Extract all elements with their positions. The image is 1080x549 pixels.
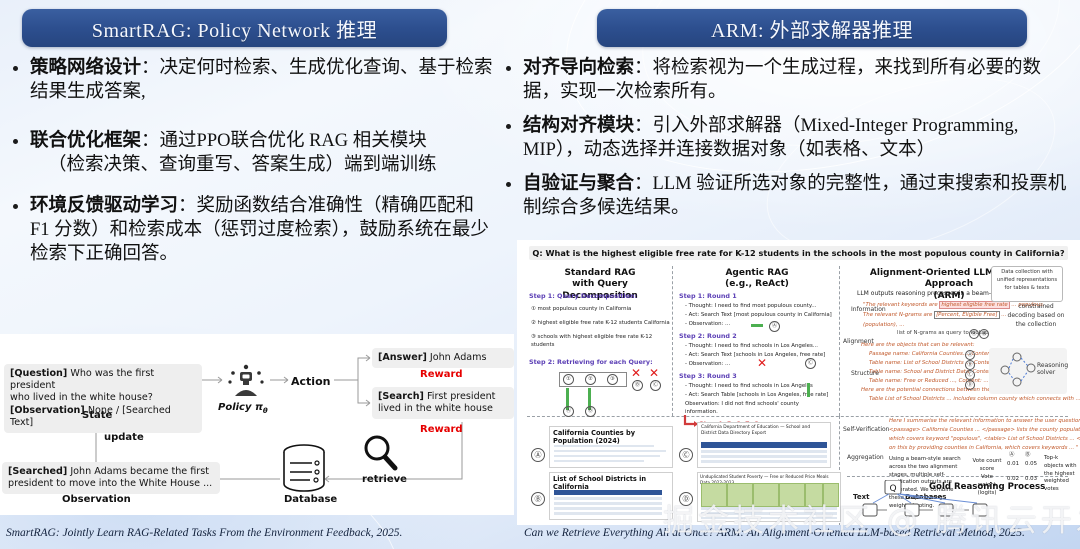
standard-item-3: ③ schools with highest eligible free rat… bbox=[531, 334, 666, 350]
agentic-round-1-line-1: - Thought: I need to find most populous … bbox=[685, 303, 816, 311]
agentic-round-2-head: Step 2: Round 2 bbox=[679, 332, 737, 340]
observation-box: [Searched] John Adams became the first p… bbox=[2, 462, 220, 494]
agentic-round-2-line-2: - Act: Search Text [schools in Los Angel… bbox=[685, 352, 825, 360]
vote-col-b: Ⓑ bbox=[1025, 452, 1030, 460]
right-figure-caption: Can we Retrieve Everything All at Once? … bbox=[524, 527, 1025, 539]
doc-sheet-c: California Department of Education — Sch… bbox=[697, 422, 831, 468]
svg-text:Q: Q bbox=[889, 484, 896, 494]
search-line-2: lived in the white house bbox=[378, 403, 508, 415]
sheet-badge-a: Ⓐ bbox=[531, 448, 545, 462]
action-label: Action bbox=[291, 375, 330, 388]
observation-label: [Observation] bbox=[10, 405, 85, 416]
left-bullet-list: 策略网络设计：决定何时检索、生成优化查询、基于检索结果生成答案, 联合优化框架：… bbox=[4, 56, 496, 267]
search-magnifier-icon bbox=[362, 434, 398, 472]
arm-summary-line-1: <passage> California Counties ... </pass… bbox=[889, 427, 1080, 435]
agentic-round-1-head: Step 1: Round 1 bbox=[679, 292, 737, 300]
standard-item-1: ① most populous county in California bbox=[531, 306, 631, 314]
vote-count-label: Vote count score bbox=[972, 458, 1002, 474]
stage-label-information: Information bbox=[851, 306, 886, 313]
query-badge-2: ② bbox=[585, 374, 596, 385]
callout-constrained-decoding: constrained decoding based on the collec… bbox=[1007, 302, 1065, 329]
arm-summary-line-3: on this by providing counties in Califor… bbox=[889, 445, 1078, 453]
vote-col-a: Ⓐ bbox=[1009, 452, 1014, 460]
arm-summary-head: Here I summarise the relevant informatio… bbox=[889, 418, 1080, 426]
question-label: [Question] bbox=[10, 368, 67, 379]
observation-label-bottom: Observation bbox=[62, 494, 131, 505]
arm-comparison-figure: Q: What is the highest eligible free rat… bbox=[517, 240, 1080, 525]
standard-step-1: Step 1: Query Decomposition: bbox=[529, 292, 637, 300]
vote-count-a: 0.01 bbox=[1007, 461, 1019, 469]
answer-text: John Adams bbox=[427, 352, 487, 363]
doc-badge-a: Ⓐ bbox=[563, 406, 574, 417]
search-line-1: [Search] First president bbox=[378, 391, 508, 403]
agentic-round-2-line-3: - Observation: ... bbox=[685, 361, 730, 369]
update-label: update bbox=[104, 432, 144, 443]
agentic-round-3-head: Step 3: Round 3 bbox=[679, 372, 737, 380]
x-mark-2: ✕ bbox=[649, 366, 659, 380]
state-label: State bbox=[82, 410, 112, 421]
right-panel-title: ARM: 外部求解器推理 bbox=[597, 9, 1027, 47]
agentic-round-1-line-2: - Act: Search Text [most populous county… bbox=[685, 312, 832, 320]
bullet-separator: ： bbox=[634, 58, 653, 78]
ngram-badge-b: Ⓑ bbox=[979, 329, 989, 339]
arm-object-3: Table name: School and District Data, Co… bbox=[869, 369, 1003, 377]
list-item: 对齐导向检索：将检索视为一个生成过程，来找到所有必要的数据，实现一次检索所有。 bbox=[497, 56, 1075, 105]
agentic-round-1-line-3: - Observation: ... bbox=[685, 321, 730, 329]
arm-keyword-line-3: (population), ... bbox=[863, 322, 904, 330]
standard-step-2: Step 2: Retrieving for each Query: bbox=[529, 358, 653, 366]
bullet-body: 通过PPO联合优化 RAG 相关模块 bbox=[160, 131, 427, 151]
arm-keyword-line-2: The relevant N-grams are [Percent, Eligi… bbox=[863, 312, 1006, 320]
bullet-body-2: （检索决策、查询重写、答案生成）端到端训练 bbox=[30, 153, 496, 177]
bullet-lead: 环境反馈驱动学习 bbox=[30, 196, 178, 216]
search-box: [Search] First president lived in the wh… bbox=[372, 387, 514, 419]
list-item: 策略网络设计：决定何时检索、生成优化查询、基于检索结果生成答案, bbox=[4, 56, 496, 105]
slide-root: SmartRAG: Policy Network 推理 ARM: 外部求解器推理… bbox=[0, 0, 1080, 549]
arm-objects-head: Here are the objects that can be relevan… bbox=[861, 342, 975, 350]
sheet-badge-d: Ⓓ bbox=[679, 492, 693, 506]
searched-text: John Adams became the first bbox=[67, 466, 209, 477]
stage-label-alignment: Alignment bbox=[843, 338, 874, 345]
green-bar-round3 bbox=[807, 383, 810, 397]
bullet-lead: 结构对齐模块 bbox=[523, 116, 634, 136]
answer-label: [Answer] bbox=[378, 352, 427, 363]
column-divider-2 bbox=[839, 266, 840, 416]
ngram-badge-a: Ⓐ bbox=[969, 329, 979, 339]
reward-bottom-label: Reward bbox=[420, 424, 463, 435]
smartrag-policy-figure: [Question] Who was the first president w… bbox=[0, 334, 514, 515]
query-badge-3: ③ bbox=[607, 374, 618, 385]
obj-badge-c: Ⓒ bbox=[965, 370, 975, 380]
list-item: 环境反馈驱动学习：奖励函数结合准确性（精确匹配和 F1 分数）和检索成本（惩罚过… bbox=[4, 194, 496, 267]
arm-object-1: Passage name: California Counties..., Co… bbox=[869, 351, 1001, 359]
doc-sheet-b: List of School Districts in California bbox=[549, 472, 673, 520]
column-divider-1 bbox=[672, 266, 673, 416]
bullet-separator: ： bbox=[634, 116, 653, 136]
gold-reasoning-graph-icon: Q bbox=[847, 480, 1027, 524]
policy-agent-icon bbox=[224, 362, 268, 400]
agentic-round-3-line-1: - Thought: I need to find schools in Los… bbox=[685, 383, 813, 391]
stage-label-aggregation: Aggregation bbox=[847, 454, 884, 461]
list-item: 联合优化框架：通过PPO联合优化 RAG 相关模块 （检索决策、查询重写、答案生… bbox=[4, 129, 496, 178]
bullet-lead: 自验证与聚合 bbox=[523, 174, 634, 194]
retrieve-label: retrieve bbox=[362, 474, 407, 485]
bullet-lead: 联合优化框架 bbox=[30, 131, 141, 151]
left-column: 策略网络设计：决定何时检索、生成优化查询、基于检索结果生成答案, 联合优化框架：… bbox=[4, 56, 496, 281]
bullet-separator: ： bbox=[141, 131, 160, 151]
arm-connections: Table List of School Districts ... inclu… bbox=[869, 396, 1080, 404]
obj-badge-d: Ⓓ bbox=[965, 380, 975, 390]
stage-label-self-verification: Self-Verification bbox=[843, 426, 889, 433]
search-label: [Search] bbox=[378, 391, 424, 402]
sheet-badge-b: Ⓑ bbox=[531, 492, 545, 506]
sheet-badge-c: Ⓒ bbox=[679, 448, 693, 462]
vote-count-b: 0.05 bbox=[1025, 461, 1037, 469]
x-mark-3: ✕ bbox=[757, 356, 767, 370]
policy-label: Policy πθ bbox=[218, 402, 268, 415]
bullet-separator: ： bbox=[178, 196, 197, 216]
obj-badge-a: Ⓐ bbox=[965, 350, 975, 360]
obj-badge-b: Ⓑ bbox=[965, 360, 975, 370]
state-box: [Question] Who was the first president w… bbox=[4, 364, 202, 433]
doc-sheet-d: Unduplicated Student Poverty — Free or R… bbox=[697, 472, 841, 522]
column-head-agentic-rag: Agentic RAG (e.g., ReAct) bbox=[692, 268, 822, 291]
state-line-2: who lived in the white house? bbox=[10, 392, 196, 404]
bullet-separator: ： bbox=[634, 174, 653, 194]
searched-line-1: [Searched] John Adams became the first bbox=[8, 466, 214, 478]
bullet-lead: 对齐导向检索 bbox=[523, 58, 634, 78]
list-item: 结构对齐模块：引入外部求解器（Mixed-Integer Programming… bbox=[497, 114, 1075, 163]
database-icon bbox=[281, 444, 327, 492]
left-panel-title: SmartRAG: Policy Network 推理 bbox=[22, 9, 447, 47]
x-mark-1: ✕ bbox=[631, 366, 641, 380]
topk-note: Top-k objects with the highest weighted … bbox=[1044, 455, 1078, 494]
right-column: 对齐导向检索：将检索视为一个生成过程，来找到所有必要的数据，实现一次检索所有。 … bbox=[497, 56, 1075, 229]
answer-box: [Answer] John Adams bbox=[372, 348, 514, 368]
standard-item-2: ② highest eligible free rate K-12 studen… bbox=[531, 320, 670, 328]
arm-object-2: Table name: List of School Districts ...… bbox=[869, 360, 1004, 368]
searched-line-2: president to move into the White House .… bbox=[8, 478, 214, 490]
round2-badge: Ⓒ bbox=[805, 358, 816, 369]
reward-top-label: Reward bbox=[420, 369, 463, 380]
doc-badge-b: Ⓑ bbox=[585, 406, 596, 417]
state-line-1: [Question] Who was the first president bbox=[10, 368, 196, 392]
green-bar-round1 bbox=[751, 324, 763, 327]
list-item: 自验证与聚合：LLM 验证所选对象的完整性，通过束搜索和投票机制综合多候选结果。 bbox=[497, 172, 1075, 221]
agentic-round-2-line-1: - Thought: I need to find schools in Los… bbox=[685, 343, 818, 351]
right-bullet-list: 对齐导向检索：将检索视为一个生成过程，来找到所有必要的数据，实现一次检索所有。 … bbox=[497, 56, 1075, 220]
arm-summary-line-2: which covers keyword "populous", <table>… bbox=[889, 436, 1080, 444]
figure-question-bar: Q: What is the highest eligible free rat… bbox=[529, 246, 1068, 260]
round1-badge: Ⓐ bbox=[769, 321, 780, 332]
query-badge-1: ① bbox=[563, 374, 574, 385]
agentic-round-3-line-3: Observation: I did not find schools' cou… bbox=[685, 401, 805, 417]
stage-label-structure: Structure bbox=[851, 370, 879, 377]
database-label: Database bbox=[284, 494, 337, 505]
doc-sheet-a: California Counties by Population (2024) bbox=[549, 426, 673, 468]
searched-label: [Searched] bbox=[8, 466, 67, 477]
result-badge-b: Ⓑ bbox=[632, 380, 643, 391]
result-badge-c: Ⓒ bbox=[650, 380, 661, 391]
bullet-lead: 策略网络设计 bbox=[30, 58, 141, 78]
search-text: First president bbox=[424, 391, 496, 402]
bullet-separator: ： bbox=[141, 58, 160, 78]
left-figure-caption: SmartRAG: Jointly Learn RAG-Related Task… bbox=[6, 527, 402, 539]
callout-data-collection: Data collection with unified representat… bbox=[991, 266, 1063, 302]
reasoning-solver-label: Reasoning solver bbox=[1037, 362, 1067, 376]
